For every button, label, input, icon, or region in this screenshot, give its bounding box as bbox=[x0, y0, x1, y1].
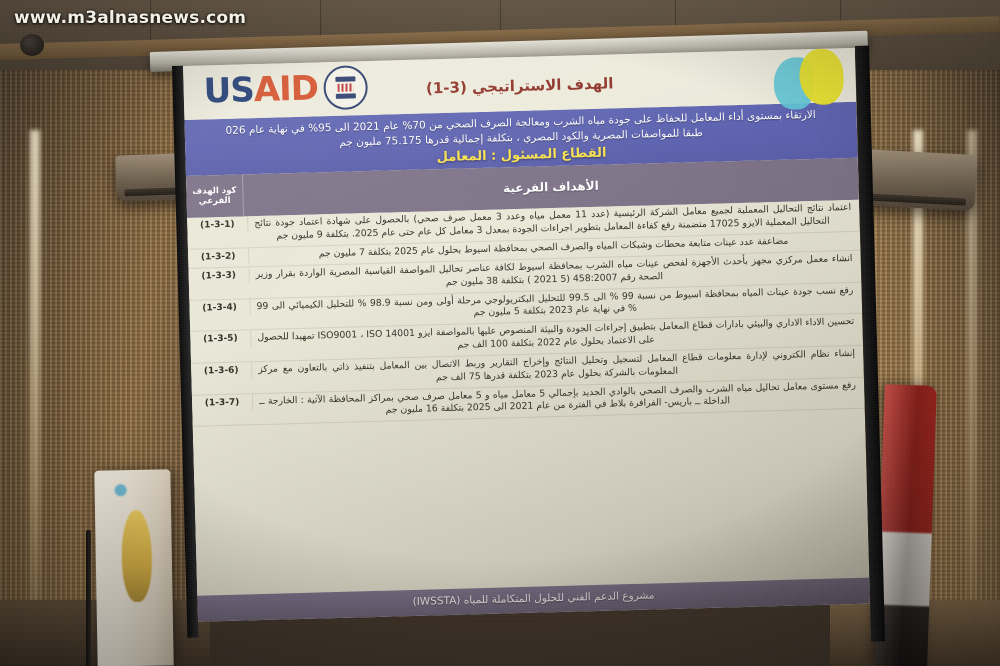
sub-goal-code: (1-3-4) bbox=[189, 299, 250, 317]
presentation-slide: USAID الهدف الاستراتيجي (3-1) الارتقاء ب… bbox=[183, 48, 870, 622]
watermark: www.m3alnasnews.com bbox=[14, 8, 246, 28]
air-conditioner-right bbox=[857, 149, 978, 211]
globe-graphic-icon bbox=[773, 48, 849, 118]
sub-goal-code: (1-3-6) bbox=[191, 362, 252, 380]
photo-scene: USAID الهدف الاستراتيجي (3-1) الارتقاء ب… bbox=[0, 0, 1000, 666]
sub-goal-code: (1-3-7) bbox=[192, 394, 253, 412]
sub-goal-code: (1-3-2) bbox=[188, 248, 249, 266]
sub-goal-code: (1-3-1) bbox=[187, 217, 248, 235]
ceiling-light-fixture bbox=[20, 34, 44, 56]
sub-goals-table: الأهداف الفرعية كود الهدف الفرعي اعتماد … bbox=[186, 158, 869, 596]
flag-pole-left bbox=[86, 530, 91, 666]
column-header-code: كود الهدف الفرعي bbox=[186, 175, 244, 219]
company-flag bbox=[94, 469, 173, 666]
sub-goal-code: (1-3-3) bbox=[188, 267, 249, 285]
sub-goal-code: (1-3-5) bbox=[190, 330, 251, 348]
table-body: اعتماد نتائج التحاليل المعملية لجميع معا… bbox=[187, 200, 869, 596]
